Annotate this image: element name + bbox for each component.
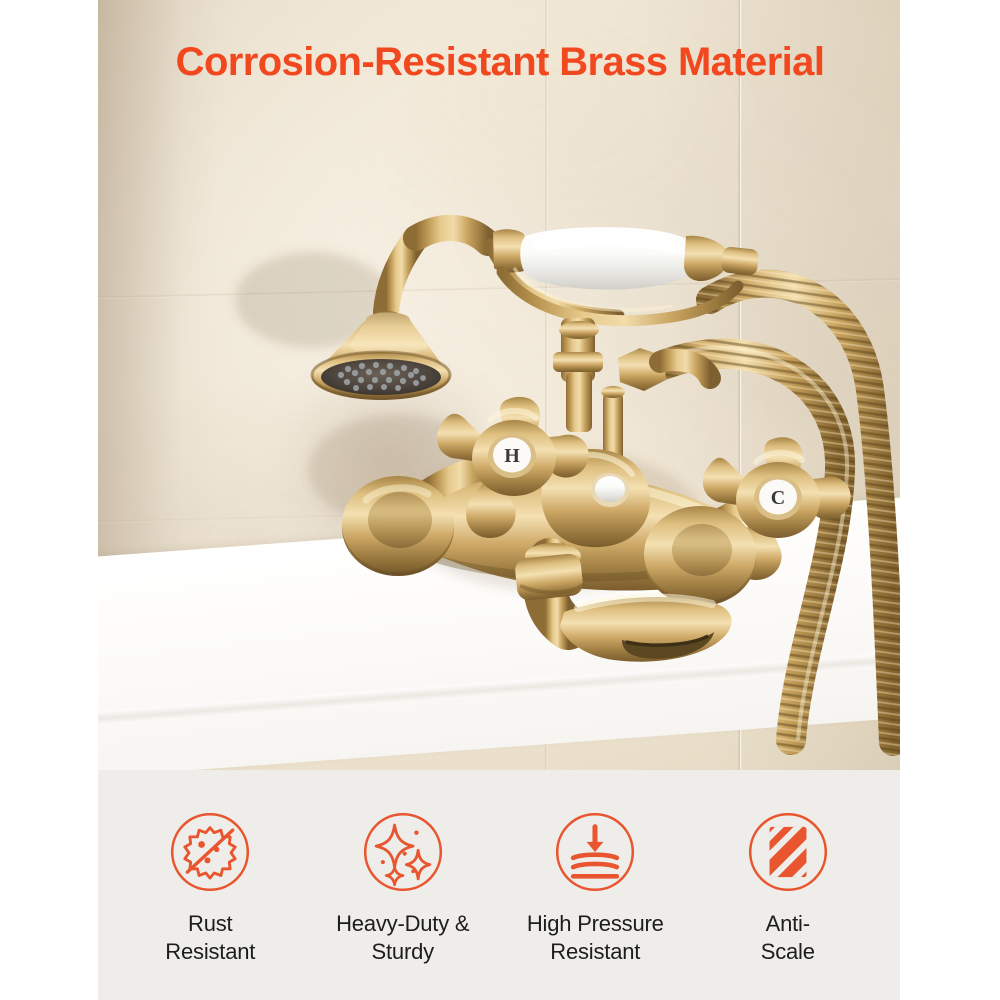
hot-handle-label: H: [504, 445, 520, 467]
left-margin: [0, 0, 98, 1000]
right-margin: [900, 0, 1000, 1000]
feature-bar: Rust Resistant Heavy-Duty & Sturdy: [98, 770, 900, 1000]
wall-escutcheon-right: [644, 506, 756, 606]
brass-shower-faucet: H C: [98, 0, 900, 770]
wall-escutcheon: [342, 476, 454, 576]
pressure-arrow-icon: [553, 810, 637, 894]
feature-label: Heavy-Duty & Sturdy: [336, 910, 469, 966]
feature-label: Anti- Scale: [761, 910, 815, 966]
feature-label-line1: Anti-: [766, 911, 810, 936]
feature-item-rust-resistant: Rust Resistant: [123, 810, 298, 966]
cold-handle-label: C: [771, 487, 785, 509]
feature-label-line1: Rust: [188, 911, 232, 936]
product-marketing-image: H C: [0, 0, 1000, 1000]
feature-label-line1: High Pressure: [527, 911, 664, 936]
feature-item-anti-scale: Anti- Scale: [700, 810, 875, 966]
diagonal-stripes-icon: [746, 810, 830, 894]
feature-item-high-pressure: High Pressure Resistant: [508, 810, 683, 966]
feature-label-line2: Resistant: [550, 939, 640, 964]
page-title: Corrosion-Resistant Brass Material: [0, 40, 1000, 84]
germ-slash-icon: [168, 810, 252, 894]
feature-label-line2: Resistant: [165, 939, 255, 964]
feature-label: High Pressure Resistant: [527, 910, 664, 966]
feature-label: Rust Resistant: [165, 910, 255, 966]
feature-label-line1: Heavy-Duty &: [336, 911, 469, 936]
sparkle-icon: [361, 810, 445, 894]
product-photo: H C: [98, 0, 900, 770]
feature-label-line2: Sturdy: [372, 939, 434, 964]
feature-item-heavy-duty: Heavy-Duty & Sturdy: [315, 810, 490, 966]
handheld-sprayer: [490, 227, 759, 321]
spout-collar: [514, 553, 584, 602]
feature-label-line2: Scale: [761, 939, 815, 964]
